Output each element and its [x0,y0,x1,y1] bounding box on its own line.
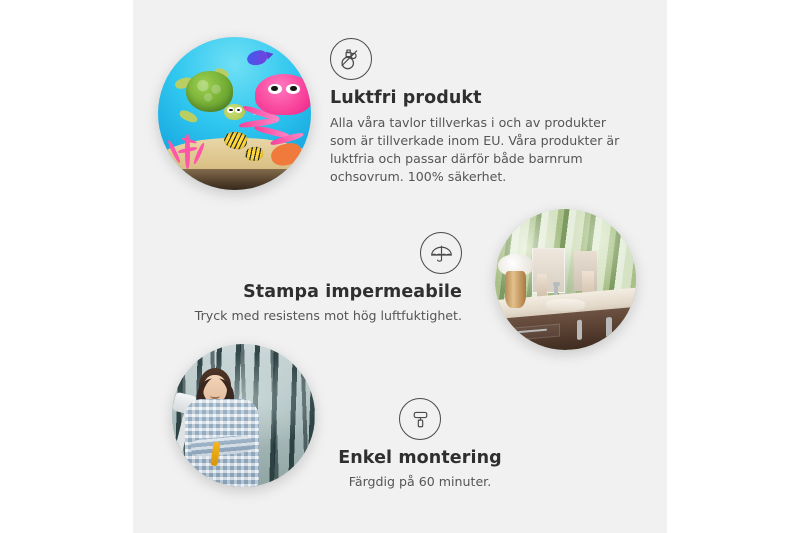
feature-title: Luktfri produkt [330,88,630,109]
feature-title: Stampa impermeabile [190,282,462,303]
feature-title: Enkel montering [305,448,535,469]
umbrella-icon [420,232,462,274]
foreground-shadow [158,169,311,190]
no-odour-perfume-bottle-icon [330,38,372,80]
turtle-illustration [178,68,242,123]
coral-illustration [166,129,212,169]
sink-basin [546,299,585,310]
underwater-cartoon-circle-image [158,37,311,190]
feature-body: Alla våra tavlor tillverkas i och av pro… [330,114,630,186]
feature-block-waterproof: Stampa impermeabile Tryck med resistens … [190,232,462,325]
octopus-illustration [250,74,311,144]
feature-body: Tryck med resistens mot hög luftfuktighe… [190,307,462,325]
feature-block-odour-free: Luktfri produkt Alla våra tavlor tillver… [330,38,630,186]
woman-with-roller-forest-circle-image [172,344,315,487]
feature-panel-screenshot: Luktfri produkt Alla våra tavlor tillver… [0,0,800,533]
vase [505,271,526,308]
bathroom-leaf-wallpaper-circle-image [495,209,636,350]
feature-body: Färgdig på 60 minuter. [305,473,535,491]
feature-block-easy-mounting: Enkel montering Färgdig på 60 minuter. [305,398,535,491]
woman-illustration [183,368,263,487]
paint-roller-icon [399,398,441,440]
